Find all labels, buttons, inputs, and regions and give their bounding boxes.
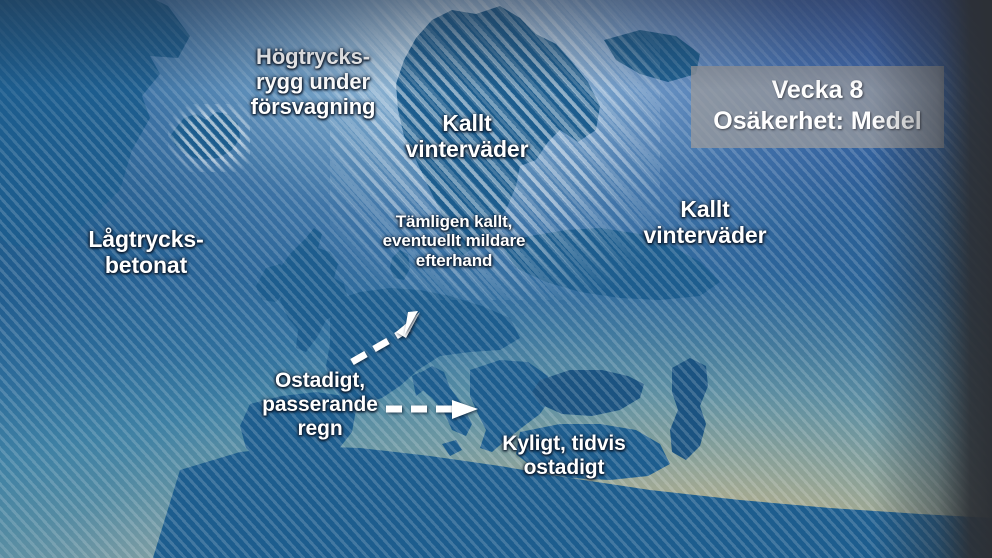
landmass-sicily	[442, 440, 462, 456]
label-unsettled-passing-rain: Ostadigt, passerande regn	[244, 369, 396, 441]
forecast-info-box: Vecka 8 Osäkerhet: Medel	[691, 66, 944, 148]
info-week-line: Vecka 8	[701, 75, 934, 106]
landmass-greenland	[0, 0, 190, 250]
label-high-pressure-ridge: Högtrycks- rygg under försvagning	[230, 44, 396, 119]
label-cold-winter-weather-east: Kallt vinterväder	[616, 196, 794, 248]
label-cold-winter-weather-north: Kallt vinterväder	[392, 110, 542, 162]
info-uncertainty-line: Osäkerhet: Medel	[701, 106, 934, 137]
weather-map-screen: Högtrycks- rygg under försvagning Kallt …	[0, 0, 992, 558]
water-black-sea	[532, 370, 644, 416]
water-caspian-sea	[670, 358, 708, 460]
label-chilly-at-times-unsettled: Kyligt, tidvis ostadigt	[476, 432, 652, 480]
landmass-russia-north	[604, 30, 700, 82]
landmass-italy	[418, 366, 472, 436]
label-fairly-cold-milder: Tämligen kallt, eventuellt mildare efter…	[364, 212, 544, 270]
label-low-pressure-dominated: Lågtrycks- betonat	[66, 226, 226, 278]
